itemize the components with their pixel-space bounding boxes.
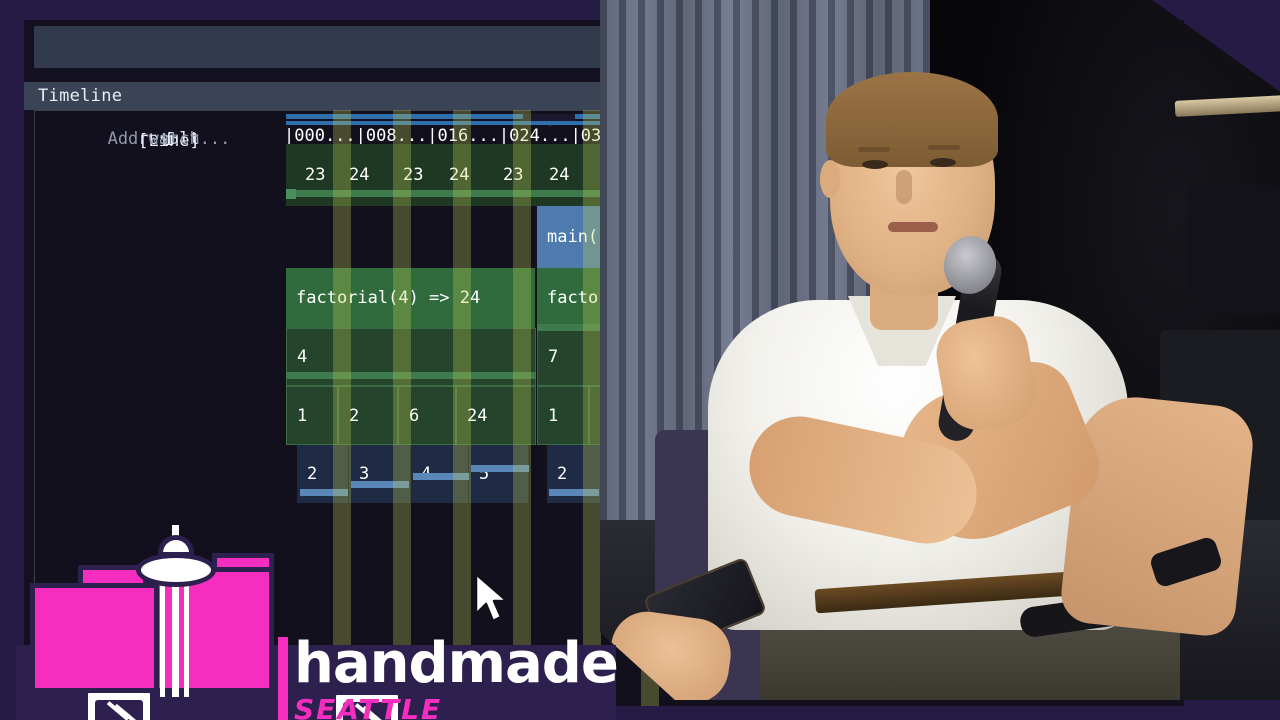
result-cell[interactable]: 24 xyxy=(456,386,536,445)
speaker-video xyxy=(600,0,1280,700)
result-value: 1 xyxy=(297,406,307,426)
speaker-eye-right xyxy=(930,158,956,167)
needle-leg xyxy=(160,585,165,697)
add-watch-button[interactable]: Add watch... xyxy=(58,110,280,168)
speaker-hair xyxy=(826,72,998,167)
line-value: 23 xyxy=(393,144,437,206)
result-value: 6 xyxy=(409,406,419,426)
line-value: 23 xyxy=(493,144,537,206)
mouse-cursor xyxy=(474,572,514,626)
f-underbar xyxy=(286,372,536,379)
i-step-bar xyxy=(413,473,469,480)
f-value: 7 xyxy=(548,347,558,367)
i-value: 2 xyxy=(557,464,567,484)
speaker-left-arm xyxy=(1058,391,1256,638)
speaker-brow-left xyxy=(858,147,890,152)
frame-block-factorial-4[interactable]: factorial(4) => 24 xyxy=(286,268,536,328)
result-value: 24 xyxy=(467,406,487,426)
result-cell[interactable]: 1 xyxy=(537,386,589,445)
f-value: 4 xyxy=(297,347,307,367)
logo-wordmark: handmade xyxy=(294,635,618,693)
handmade-seattle-logo: handmade SEATTLE xyxy=(16,525,616,720)
speaker-eye-left xyxy=(862,160,888,169)
playhead-marker[interactable] xyxy=(523,114,575,121)
result-cell[interactable]: 6 xyxy=(398,386,456,445)
screen: Timeline [Line] f result i Add watch... xyxy=(0,0,1280,720)
needle-leg xyxy=(172,585,177,697)
line-value: 24 xyxy=(439,144,483,206)
result-value: 2 xyxy=(349,406,359,426)
logo-accent-bar xyxy=(278,637,288,720)
speaker-mouth xyxy=(888,222,938,232)
i-value: 2 xyxy=(307,464,317,484)
i-step-bar xyxy=(549,489,599,496)
needle-leg xyxy=(184,585,189,697)
i-cell[interactable]: 3 xyxy=(349,445,411,503)
i-step-bar xyxy=(471,465,529,472)
monitor-screen xyxy=(95,700,143,720)
i-step-bar xyxy=(300,489,348,496)
needle-cap xyxy=(158,535,194,557)
needle-saucer xyxy=(136,553,216,587)
line-value: 23 xyxy=(295,144,339,206)
line-value: 24 xyxy=(339,144,383,206)
i-cell[interactable]: 5 xyxy=(469,445,529,503)
logo-submark: SEATTLE xyxy=(294,693,442,720)
speaker-nose xyxy=(896,170,912,204)
result-cell[interactable]: 1 xyxy=(286,386,338,445)
i-step-bar xyxy=(351,481,409,488)
result-cell[interactable]: 2 xyxy=(338,386,398,445)
space-needle-icon xyxy=(128,525,224,697)
speaker-ear xyxy=(820,160,840,198)
result-value: 1 xyxy=(548,406,558,426)
speaker-brow-right xyxy=(928,145,960,150)
background-chair xyxy=(1188,185,1280,315)
line-value: 24 xyxy=(539,144,583,206)
